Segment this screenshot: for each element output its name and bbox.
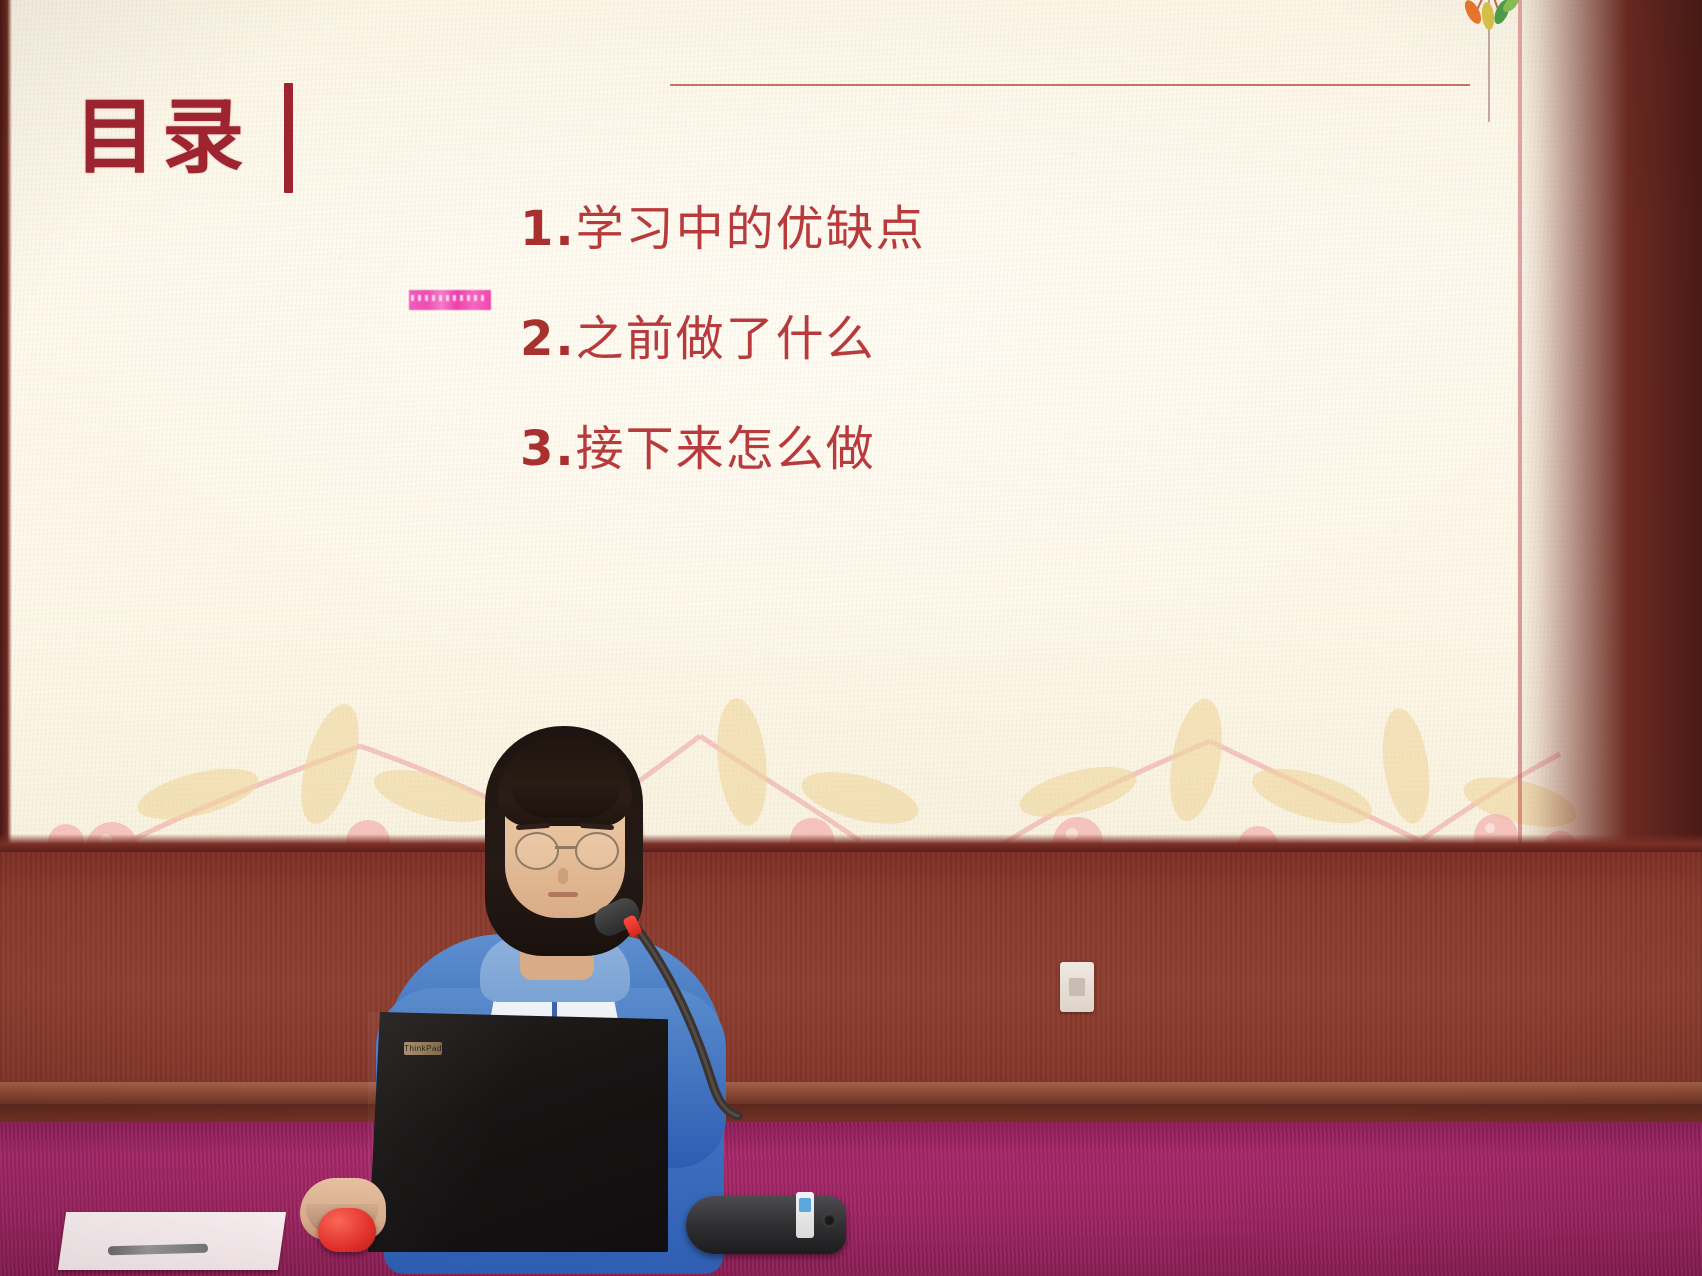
wall-trim xyxy=(0,1082,1702,1104)
nose xyxy=(558,868,568,884)
list-item: 2.之前做了什么 xyxy=(520,315,1280,363)
slide-title-block: 目录 xyxy=(74,83,293,193)
list-item-label: 接下来怎么做 xyxy=(576,421,876,477)
leaf-sprig-icon xyxy=(1455,0,1525,36)
table-of-contents: 1.学习中的优缺点 2.之前做了什么 3.接下来怎么做 xyxy=(520,205,1280,535)
magenta-glitch-artifact xyxy=(409,290,491,310)
title-accent-bar xyxy=(284,83,293,193)
computer-mouse[interactable] xyxy=(318,1208,376,1252)
mic-name-card xyxy=(796,1192,814,1238)
floral-border-decoration xyxy=(0,596,1702,856)
lens-left xyxy=(515,832,559,870)
list-item: 3.接下来怎么做 xyxy=(520,425,1280,473)
list-item-number: 1. xyxy=(520,201,576,257)
eyeglasses-icon xyxy=(512,832,620,866)
wall-grain xyxy=(0,852,1702,1102)
list-item-label: 之前做了什么 xyxy=(576,311,876,367)
laptop-sheen xyxy=(368,1012,668,1252)
back-wall xyxy=(0,852,1702,1102)
top-horizontal-rule xyxy=(670,84,1470,86)
paper-sheet xyxy=(58,1212,286,1270)
glasses-bridge xyxy=(555,846,577,849)
list-item-label: 学习中的优缺点 xyxy=(576,201,926,257)
microphone-base[interactable] xyxy=(686,1196,846,1254)
screen-edge-left xyxy=(0,0,12,856)
mouth xyxy=(548,892,578,897)
list-item-number: 2. xyxy=(520,311,576,367)
lens-right xyxy=(575,832,619,870)
laptop[interactable]: ThinkPad xyxy=(368,1012,668,1276)
screen-edge-right xyxy=(1516,0,1702,856)
power-outlet xyxy=(1060,962,1094,1012)
list-item-number: 3. xyxy=(520,421,576,477)
projection-screen: 目录 1.学习中的优缺点 2.之前做了什么 3.接下来怎么做 xyxy=(0,0,1702,856)
list-item: 1.学习中的优缺点 xyxy=(520,205,1280,253)
photo-scene: 目录 1.学习中的优缺点 2.之前做了什么 3.接下来怎么做 xyxy=(0,0,1702,1276)
page-title: 目录 xyxy=(74,97,250,179)
